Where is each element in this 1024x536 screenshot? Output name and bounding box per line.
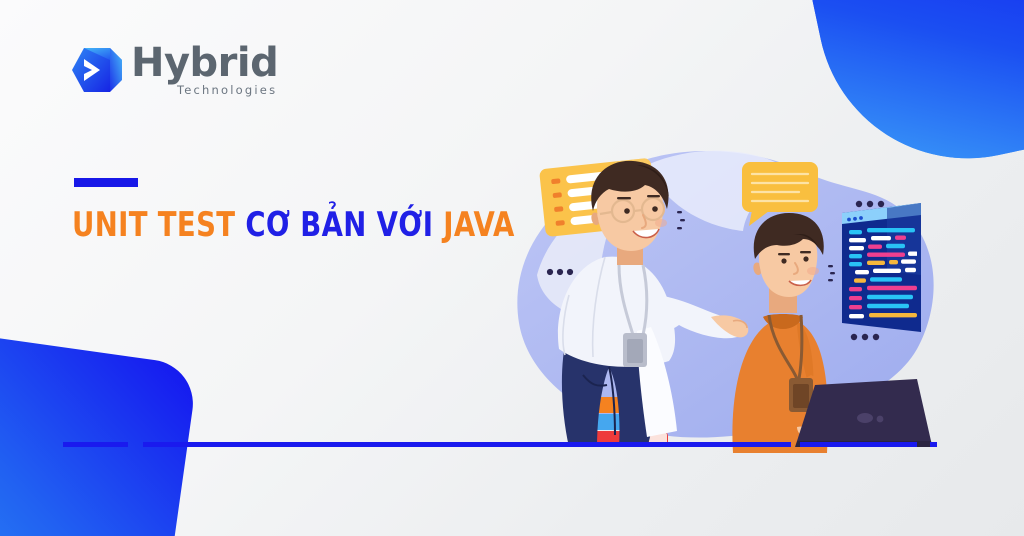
bottom-left-corner-shape <box>0 325 199 536</box>
two-developers-pair-programming-illustration <box>497 135 967 465</box>
baseline-segment-3 <box>800 442 917 447</box>
blue-baseline-rule <box>0 442 1024 447</box>
baseline-segment-1 <box>63 442 128 447</box>
hybrid-arrow-logo-icon <box>70 45 122 95</box>
page-title: UNIT TEST CƠ BẢN VỚI JAVA <box>72 205 515 245</box>
title-part-2: CƠ BẢN VỚI <box>245 205 433 245</box>
baseline-segment-4 <box>930 442 937 447</box>
code-editor-window <box>842 203 921 332</box>
three-dots-decoration <box>856 201 884 207</box>
three-dots-decoration <box>851 334 879 340</box>
three-dots-decoration <box>547 269 573 275</box>
brand-tagline: Technologies <box>177 85 277 97</box>
title-accent-rule <box>74 178 138 187</box>
brand-logo[interactable]: Hybrid Technologies <box>70 43 278 97</box>
title-part-1: UNIT TEST <box>72 205 235 245</box>
laptop <box>795 379 933 447</box>
banner-root: Hybrid Technologies UNIT TEST CƠ BẢN VỚI… <box>0 0 1024 536</box>
baseline-segment-2 <box>143 442 791 447</box>
brand-name: Hybrid <box>131 43 278 83</box>
